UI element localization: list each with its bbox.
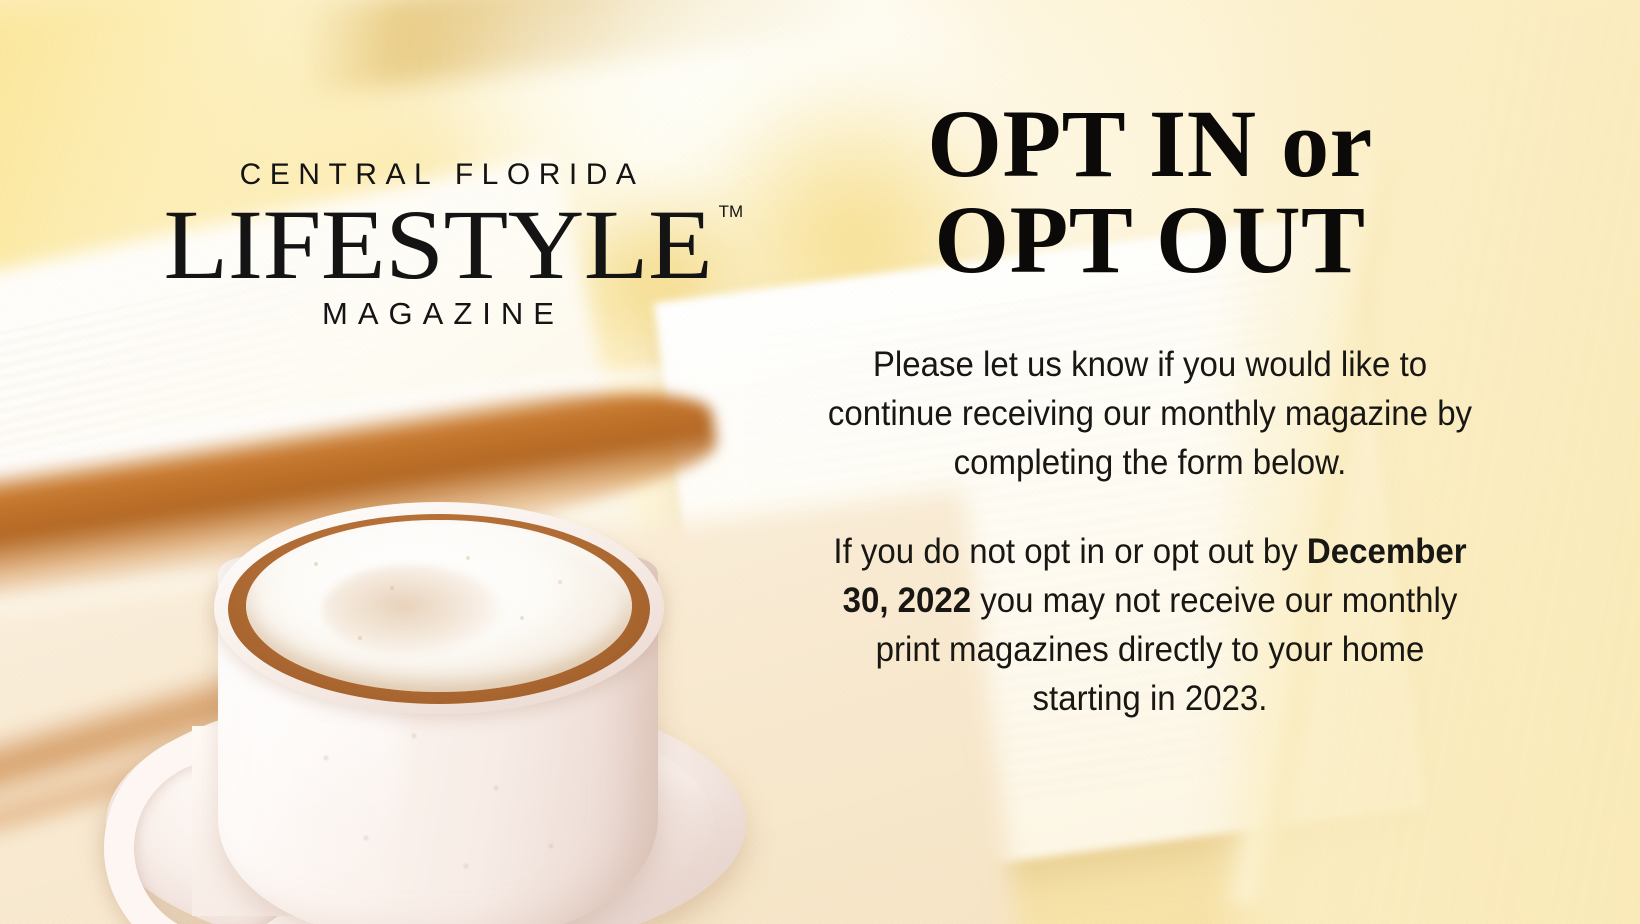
paragraph-request: Please let us know if you would like to … <box>825 340 1476 487</box>
brand-logo: CENTRAL FLORIDA LIFESTYLE TM MAGAZINE <box>118 160 758 329</box>
brand-wordmark: LIFESTYLE TM <box>164 198 713 292</box>
cappuccino-photo <box>86 468 766 924</box>
headline-line-1: OPT IN or <box>800 96 1500 192</box>
page-title: OPT IN or OPT OUT <box>800 96 1500 288</box>
message-panel: OPT IN or OPT OUT Please let us know if … <box>800 96 1500 723</box>
cup-snowflake-pattern <box>296 718 596 908</box>
paragraph-deadline: If you do not opt in or opt out by Decem… <box>825 527 1476 723</box>
promotional-graphic: CENTRAL FLORIDA LIFESTYLE TM MAGAZINE OP… <box>0 0 1640 924</box>
foam-bubbles <box>272 534 612 680</box>
brand-wordmark-text: LIFESTYLE <box>164 189 713 300</box>
trademark-symbol: TM <box>719 204 743 220</box>
headline-line-2: OPT OUT <box>800 192 1500 288</box>
magazine-blurred-headline <box>297 0 863 95</box>
body-copy: Please let us know if you would like to … <box>825 340 1476 723</box>
brand-descriptor: MAGAZINE <box>118 298 758 329</box>
deadline-text-before: If you do not opt in or opt out by <box>833 531 1307 571</box>
paragraph-spacer <box>825 487 1476 527</box>
brand-eyebrow: CENTRAL FLORIDA <box>118 160 758 190</box>
